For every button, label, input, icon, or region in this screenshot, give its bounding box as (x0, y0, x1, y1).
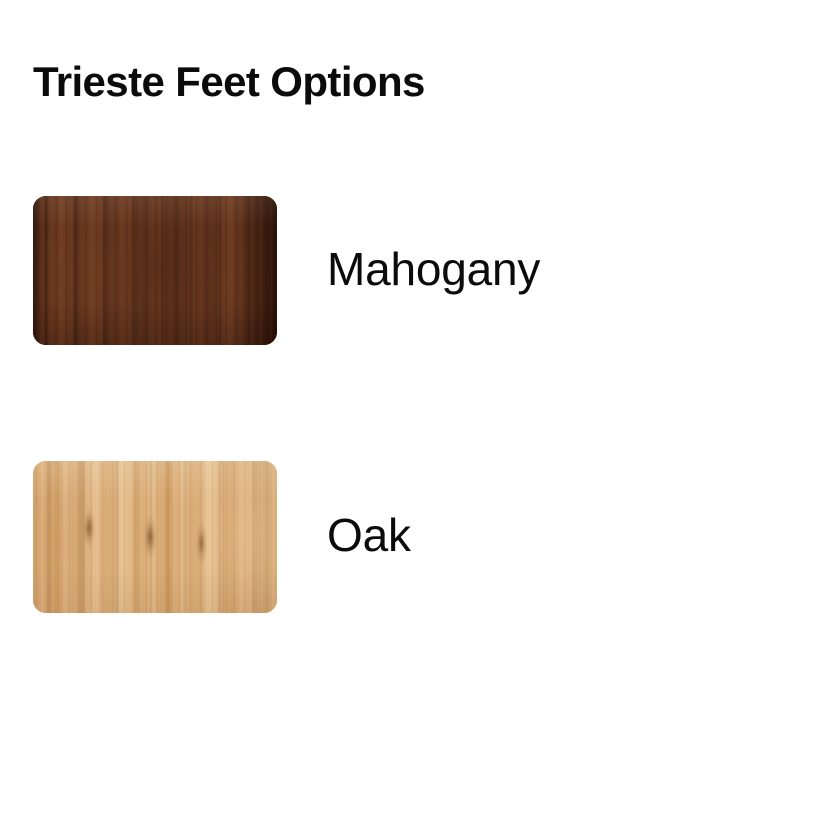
finish-label-oak: Oak (327, 512, 411, 558)
mahogany-sheen-overlay (33, 196, 277, 345)
finish-option-oak[interactable]: Oak (0, 461, 840, 613)
finish-label-mahogany: Mahogany (327, 246, 540, 292)
feet-options-page: Trieste Feet Options Mahogany Oak (0, 0, 840, 840)
oak-wood-swatch[interactable] (33, 461, 277, 613)
finish-option-mahogany[interactable]: Mahogany (0, 196, 840, 461)
page-title: Trieste Feet Options (33, 58, 425, 105)
finish-options-list: Mahogany Oak (0, 196, 840, 613)
mahogany-wood-swatch[interactable] (33, 196, 277, 345)
oak-sheen-overlay (33, 461, 277, 613)
